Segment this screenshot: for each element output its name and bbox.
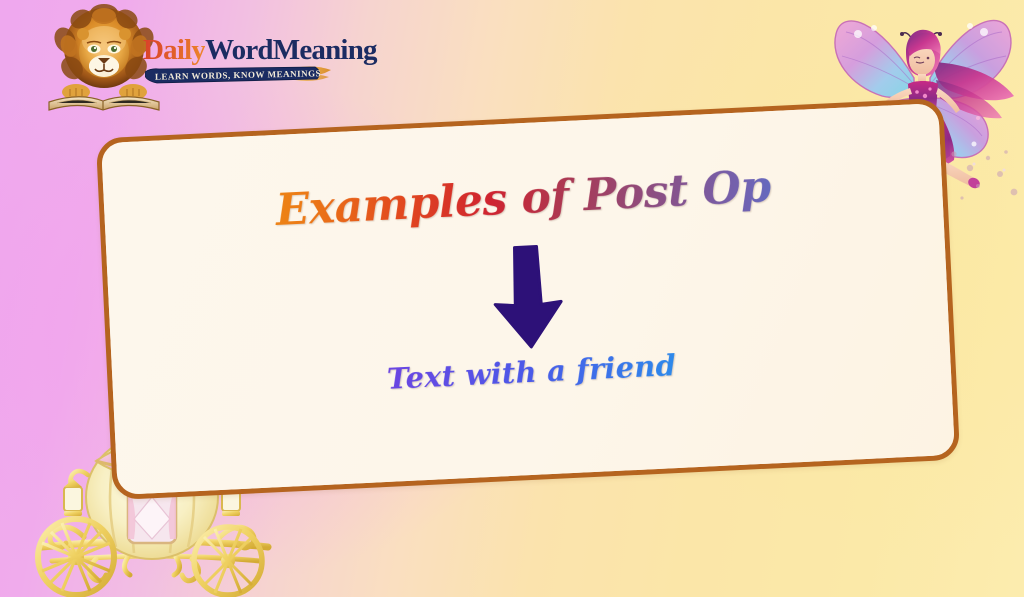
poster-canvas: DailyWordMeaning LEARN WORDS, KNOW MEANI… bbox=[0, 0, 1024, 597]
logo-wordmark: DailyWordMeaning bbox=[143, 32, 338, 68]
card-title: Examples of Post Op bbox=[103, 153, 942, 244]
site-logo[interactable]: DailyWordMeaning LEARN WORDS, KNOW MEANI… bbox=[45, 4, 335, 112]
down-arrow-icon bbox=[486, 243, 569, 351]
content-card: Examples of Post Op Text with a friend O… bbox=[96, 98, 960, 500]
card-inner: Examples of Post Op Text with a friend O… bbox=[101, 103, 955, 495]
logo-name-wordmeaning: WordMeaning bbox=[205, 34, 377, 66]
logo-name-daily: Daily bbox=[143, 34, 205, 66]
